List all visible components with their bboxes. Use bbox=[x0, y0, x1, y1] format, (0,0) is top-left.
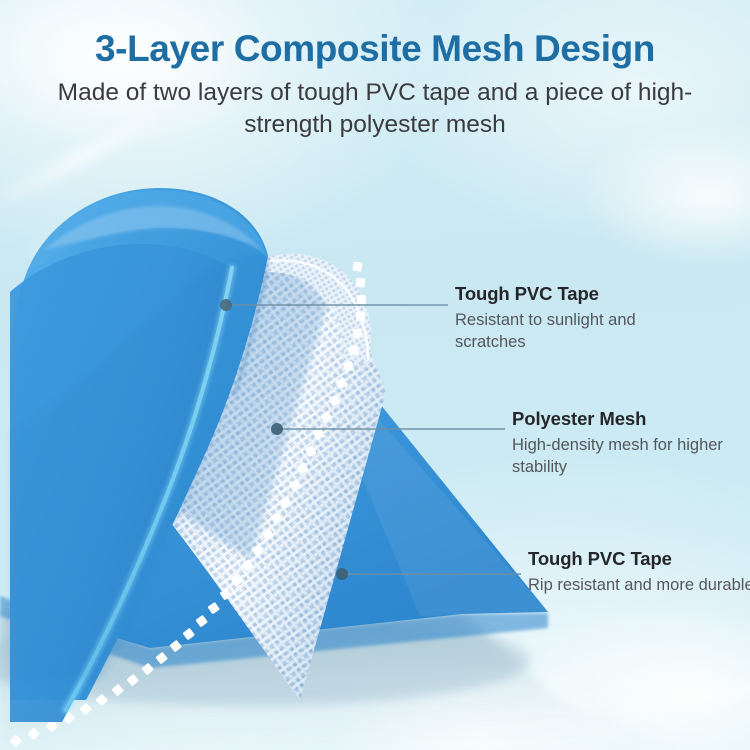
callout-description: Resistant to sunlight and scratches bbox=[455, 310, 695, 354]
callout-tough-pvc-tape-top: Tough PVC Tape Resistant to sunlight and… bbox=[455, 283, 695, 354]
page-subtitle: Made of two layers of tough PVC tape and… bbox=[55, 77, 695, 140]
callout-title: Polyester Mesh bbox=[512, 408, 750, 430]
heading-block: 3-Layer Composite Mesh Design Made of tw… bbox=[0, 28, 750, 140]
leader-marker-3 bbox=[336, 568, 348, 580]
callout-tough-pvc-tape-bottom: Tough PVC Tape Rip resistant and more du… bbox=[528, 548, 750, 597]
leader-marker-1 bbox=[220, 299, 232, 311]
callout-description: High-density mesh for higher stability bbox=[512, 435, 750, 479]
callout-polyester-mesh: Polyester Mesh High-density mesh for hig… bbox=[512, 408, 750, 479]
callout-title: Tough PVC Tape bbox=[528, 548, 750, 570]
leader-marker-2 bbox=[271, 423, 283, 435]
infographic-root: 3-Layer Composite Mesh Design Made of tw… bbox=[0, 0, 750, 750]
page-title: 3-Layer Composite Mesh Design bbox=[0, 28, 750, 69]
callout-title: Tough PVC Tape bbox=[455, 283, 695, 305]
callout-description: Rip resistant and more durable bbox=[528, 575, 750, 597]
